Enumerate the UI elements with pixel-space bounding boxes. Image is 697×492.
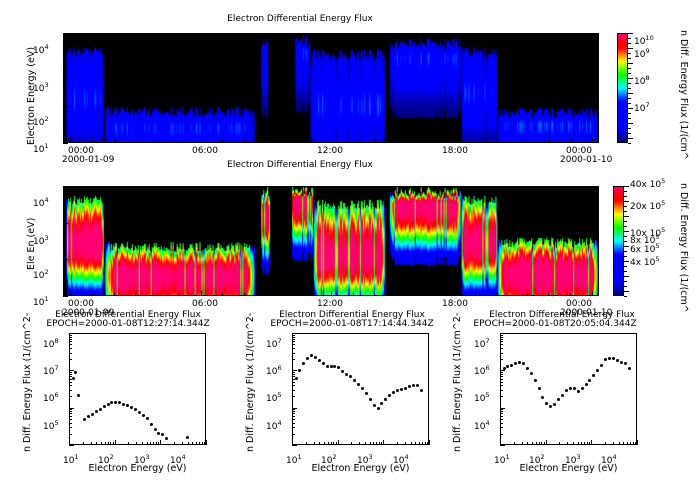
axis-tick — [63, 265, 66, 266]
axis-tick — [314, 442, 315, 445]
axis-tick — [411, 442, 412, 445]
data-point — [400, 388, 403, 391]
axis-tick — [69, 445, 74, 446]
colorbar-tick — [624, 281, 627, 282]
axis-tick — [206, 440, 207, 445]
axis-tick — [69, 333, 74, 334]
data-point — [577, 390, 580, 393]
axis-tick — [69, 396, 72, 397]
panel2-ytick-10-1: 101 — [33, 290, 49, 309]
axis-tick — [292, 379, 295, 380]
data-point — [150, 423, 153, 426]
data-point — [585, 383, 588, 386]
axis-tick — [292, 382, 295, 383]
panel3-plot-area[interactable] — [69, 333, 206, 445]
axis-tick — [63, 285, 66, 286]
panel1-ytick-10-4: 104 — [33, 38, 49, 57]
axis-tick — [483, 293, 484, 296]
colorbar-tick — [628, 48, 633, 49]
colorbar-tick — [624, 226, 627, 227]
axis-tick — [288, 140, 289, 143]
data-point — [161, 433, 164, 436]
axis-tick — [69, 408, 74, 409]
axis-tick — [505, 293, 506, 296]
axis-tick — [63, 114, 66, 115]
axis-tick — [266, 140, 267, 143]
axis-tick — [63, 237, 66, 238]
data-point — [146, 417, 149, 420]
panel4-ylabel: n Diff. Energy Flux (1/(cm^2- — [245, 313, 256, 452]
axis-tick — [69, 427, 72, 428]
axis-tick — [69, 390, 72, 391]
axis-tick — [92, 140, 93, 143]
data-point — [514, 362, 517, 365]
axis-tick — [500, 379, 503, 380]
axis-tick — [96, 442, 97, 445]
axis-tick — [135, 293, 136, 296]
data-point — [545, 402, 548, 405]
axis-tick — [292, 427, 295, 428]
colorbar-tick — [628, 98, 631, 99]
axis-tick — [69, 353, 72, 354]
data-point — [310, 354, 313, 357]
data-point — [561, 394, 564, 397]
axis-tick — [63, 267, 66, 268]
axis-tick — [627, 442, 628, 445]
data-point — [412, 384, 415, 387]
panel1-ylabel: Electron Energy (eV) — [26, 47, 37, 145]
axis-tick — [292, 341, 295, 342]
colorbar-tick — [624, 221, 627, 222]
panel1-colorbar — [617, 33, 628, 143]
axis-tick — [548, 140, 549, 143]
axis-tick — [292, 419, 295, 420]
axis-tick — [527, 442, 528, 445]
data-point — [326, 365, 329, 368]
colorbar-tick — [628, 43, 631, 44]
axis-tick — [500, 382, 503, 383]
axis-tick — [63, 234, 66, 235]
axis-tick — [69, 423, 72, 424]
axis-tick — [136, 442, 137, 445]
axis-tick — [63, 201, 66, 202]
data-point — [600, 364, 603, 367]
panel3-ytick-10-8: 108 — [43, 332, 59, 351]
axis-tick — [70, 138, 71, 143]
axis-tick — [292, 348, 295, 349]
data-point — [581, 387, 584, 390]
panel2-title: Electron Differential Energy Flux — [0, 160, 600, 170]
panel2-xtick-2: 12:00 — [317, 299, 343, 309]
data-point — [388, 394, 391, 397]
colorbar-tick — [628, 133, 631, 134]
axis-tick — [319, 442, 320, 445]
axis-tick — [292, 409, 295, 410]
data-point — [420, 389, 423, 392]
axis-tick — [69, 341, 72, 342]
colorbar-tick — [624, 251, 627, 252]
data-point — [154, 428, 157, 431]
axis-tick — [370, 442, 371, 445]
axis-tick — [500, 445, 505, 446]
data-point — [322, 362, 325, 365]
data-point — [118, 401, 121, 404]
axis-tick — [292, 416, 295, 417]
panel5-plot-area[interactable] — [500, 333, 637, 445]
axis-tick — [63, 190, 66, 191]
panel5-ytick-10-5: 105 — [474, 386, 490, 405]
axis-tick — [500, 335, 503, 336]
axis-tick — [69, 337, 72, 338]
axis-tick — [374, 293, 375, 296]
axis-tick — [244, 293, 245, 296]
panel2-cbtick-10e5: 10x 105 — [630, 221, 665, 240]
axis-tick — [69, 335, 72, 336]
panel5-ylabel: n Diff. Energy Flux (1/(cm^2- — [452, 313, 463, 452]
panel1-colorbar-label: n Diff. Energy Flux (1/(cm^ — [678, 30, 689, 160]
colorbar-tick — [628, 88, 631, 89]
data-point — [142, 414, 145, 417]
colorbar-tick — [624, 216, 629, 217]
panel4-subtitle: EPOCH=2000-01-08T17:14:44.344Z — [252, 319, 452, 329]
axis-tick — [570, 293, 571, 296]
axis-tick — [63, 37, 66, 38]
panel1-cbtick-10-10: 1010 — [634, 29, 654, 48]
data-point — [404, 387, 407, 390]
panel4-ytick-10-6: 106 — [266, 359, 282, 378]
axis-tick — [63, 110, 66, 111]
axis-tick — [619, 442, 620, 445]
axis-tick — [589, 442, 590, 445]
axis-tick — [359, 442, 360, 445]
data-point — [616, 359, 619, 362]
axis-tick — [461, 291, 462, 296]
axis-tick — [63, 108, 66, 109]
axis-tick — [115, 440, 116, 445]
axis-tick — [500, 359, 503, 360]
axis-tick — [153, 442, 154, 445]
panel2-ytick-10-3: 103 — [33, 229, 49, 248]
data-point — [365, 392, 368, 395]
axis-tick — [397, 442, 398, 445]
panel5-subtitle: EPOCH=2000-01-08T20:05:04.344Z — [455, 319, 655, 329]
data-point — [510, 364, 513, 367]
axis-tick — [63, 75, 66, 76]
axis-tick — [292, 370, 297, 371]
axis-tick — [63, 261, 66, 262]
axis-tick — [567, 442, 568, 445]
axis-tick — [292, 385, 295, 386]
colorbar-tick — [628, 78, 633, 79]
axis-tick — [623, 442, 624, 445]
axis-tick — [427, 442, 428, 445]
axis-tick — [633, 442, 634, 445]
axis-tick — [157, 293, 158, 296]
colorbar-tick — [628, 128, 631, 129]
axis-tick — [373, 442, 374, 445]
axis-tick — [500, 416, 503, 417]
axis-tick — [573, 442, 574, 445]
axis-tick — [500, 396, 503, 397]
colorbar-tick — [628, 83, 631, 84]
panel1-cbtick-10-8: 108 — [634, 69, 650, 88]
axis-tick — [69, 413, 72, 414]
data-point — [306, 357, 309, 360]
panel2-colorbar — [613, 186, 624, 296]
axis-tick — [500, 374, 503, 375]
panel5-ytick-10-7: 107 — [474, 332, 490, 351]
axis-tick — [418, 293, 419, 296]
axis-tick — [288, 293, 289, 296]
axis-tick — [514, 442, 515, 445]
axis-tick — [63, 44, 66, 45]
data-point — [83, 418, 86, 421]
axis-tick — [63, 212, 66, 213]
colorbar-tick — [628, 108, 633, 109]
axis-tick — [63, 73, 66, 74]
data-point — [408, 385, 411, 388]
data-point — [592, 374, 595, 377]
colorbar-tick — [628, 38, 631, 39]
axis-tick — [201, 291, 202, 296]
panel4-ytick-10-7: 107 — [266, 332, 282, 351]
axis-tick — [429, 440, 430, 445]
colorbar-tick — [624, 196, 627, 197]
colorbar-tick — [628, 58, 631, 59]
axis-tick — [548, 293, 549, 296]
axis-tick — [351, 442, 352, 445]
axis-tick — [418, 140, 419, 143]
panel1-ytick-10-2: 102 — [33, 110, 49, 129]
axis-tick — [292, 376, 295, 377]
axis-tick — [63, 248, 66, 249]
axis-tick — [500, 337, 503, 338]
panel5-ytick-10-4: 104 — [474, 414, 490, 433]
axis-tick — [292, 390, 295, 391]
data-point — [103, 405, 106, 408]
axis-tick — [179, 140, 180, 143]
axis-tick — [328, 442, 329, 445]
axis-tick — [292, 353, 295, 354]
data-point — [72, 377, 75, 380]
axis-tick — [63, 41, 66, 42]
axis-tick — [591, 440, 592, 445]
data-point — [126, 404, 129, 407]
colorbar-tick — [624, 266, 627, 267]
data-point — [608, 357, 611, 360]
axis-tick — [63, 186, 68, 187]
axis-tick — [592, 291, 593, 296]
axis-tick — [63, 71, 66, 72]
axis-tick — [292, 445, 297, 446]
data-point — [345, 373, 348, 376]
data-point — [596, 369, 599, 372]
data-point — [557, 398, 560, 401]
axis-tick — [331, 442, 332, 445]
axis-tick — [63, 117, 66, 118]
data-point — [392, 391, 395, 394]
axis-tick — [309, 293, 310, 296]
axis-tick — [108, 442, 109, 445]
data-point — [110, 401, 113, 404]
data-point — [588, 379, 591, 382]
axis-tick — [105, 442, 106, 445]
data-point — [91, 413, 94, 416]
axis-tick — [374, 140, 375, 143]
axis-tick — [114, 140, 115, 143]
data-point — [337, 366, 340, 369]
axis-tick — [244, 140, 245, 143]
axis-tick — [63, 59, 66, 60]
axis-tick — [63, 84, 66, 85]
axis-tick — [199, 442, 200, 445]
axis-tick — [500, 434, 503, 435]
colorbar-tick — [624, 201, 629, 202]
data-point — [165, 437, 168, 440]
axis-tick — [570, 140, 571, 143]
data-point — [624, 362, 627, 365]
axis-tick — [196, 442, 197, 445]
axis-tick — [605, 442, 606, 445]
panel3-xlabel: Electron Energy (eV) — [69, 463, 206, 474]
axis-tick — [500, 390, 503, 391]
colorbar-tick — [624, 256, 627, 257]
axis-tick — [63, 112, 66, 113]
axis-tick — [63, 192, 66, 193]
data-point — [99, 408, 102, 411]
panel4-plot-area[interactable] — [292, 333, 429, 445]
axis-tick — [333, 442, 334, 445]
axis-tick — [292, 440, 293, 445]
axis-tick — [292, 359, 295, 360]
axis-tick — [69, 339, 72, 340]
colorbar-tick — [628, 53, 631, 54]
data-point — [314, 356, 317, 359]
axis-tick — [500, 411, 503, 412]
axis-tick — [292, 434, 295, 435]
data-point — [522, 362, 525, 365]
axis-tick — [292, 423, 295, 424]
colorbar-tick — [628, 143, 631, 144]
axis-tick — [204, 442, 205, 445]
panel1-ytick-10-3: 103 — [33, 76, 49, 95]
panel2-xtick-1: 06:00 — [192, 299, 218, 309]
axis-tick — [500, 348, 503, 349]
axis-tick — [440, 293, 441, 296]
axis-tick — [69, 370, 74, 371]
axis-tick — [500, 423, 503, 424]
axis-tick — [69, 416, 72, 417]
colorbar-tick — [628, 138, 633, 139]
axis-tick — [113, 442, 114, 445]
axis-tick — [544, 442, 545, 445]
axis-tick — [110, 442, 111, 445]
axis-tick — [142, 442, 143, 445]
colorbar-tick — [628, 93, 633, 94]
panel4-ytick-10-5: 105 — [266, 386, 282, 405]
axis-tick — [546, 440, 547, 445]
panel3-ylabel: n Diff. Energy Flux (1/(cm^2- — [22, 313, 33, 452]
axis-tick — [383, 440, 384, 445]
data-point — [373, 404, 376, 407]
axis-tick — [266, 293, 267, 296]
panel2-ytick-10-4: 104 — [33, 191, 49, 210]
panel5-xlabel: Electron Energy (eV) — [500, 463, 637, 474]
axis-tick — [365, 442, 366, 445]
axis-tick — [353, 140, 354, 143]
axis-tick — [500, 333, 505, 334]
data-point — [295, 377, 298, 380]
axis-tick — [500, 372, 503, 373]
axis-tick — [63, 274, 66, 275]
axis-tick — [63, 279, 66, 280]
axis-tick — [422, 442, 423, 445]
axis-tick — [69, 434, 72, 435]
data-point — [534, 379, 537, 382]
axis-tick — [419, 442, 420, 445]
axis-tick — [83, 442, 84, 445]
axis-tick — [63, 231, 66, 232]
axis-tick — [500, 376, 503, 377]
data-point — [396, 389, 399, 392]
axis-tick — [69, 440, 70, 445]
panel1-cbtick-10-7: 107 — [634, 96, 650, 115]
axis-tick — [128, 442, 129, 445]
axis-tick — [69, 385, 72, 386]
axis-tick — [415, 442, 416, 445]
axis-tick — [635, 442, 636, 445]
data-point — [518, 361, 521, 364]
data-point — [369, 398, 372, 401]
axis-tick — [584, 442, 585, 445]
panel1-plot-area[interactable] — [63, 33, 599, 143]
axis-tick — [188, 442, 189, 445]
data-point — [541, 396, 544, 399]
data-point — [377, 407, 380, 410]
data-point — [573, 387, 576, 390]
axis-tick — [69, 376, 72, 377]
colorbar-tick — [624, 286, 627, 287]
colorbar-tick — [624, 246, 629, 247]
axis-tick — [536, 442, 537, 445]
data-point — [298, 369, 301, 372]
axis-tick — [527, 293, 528, 296]
axis-tick — [376, 442, 377, 445]
colorbar-tick — [628, 68, 631, 69]
data-point — [95, 410, 98, 413]
axis-tick — [69, 409, 72, 410]
axis-tick — [63, 188, 66, 189]
data-point — [361, 387, 364, 390]
axis-tick — [292, 335, 295, 336]
data-point — [565, 389, 568, 392]
axis-tick — [292, 413, 295, 414]
axis-tick — [630, 442, 631, 445]
axis-tick — [522, 442, 523, 445]
axis-tick — [292, 411, 295, 412]
axis-tick — [91, 442, 92, 445]
colorbar-tick — [628, 63, 633, 64]
axis-tick — [500, 339, 503, 340]
axis-tick — [292, 396, 295, 397]
axis-tick — [101, 442, 102, 445]
colorbar-tick — [624, 261, 629, 262]
panel2-plot-area[interactable] — [63, 186, 599, 296]
axis-tick — [179, 293, 180, 296]
axis-tick — [150, 442, 151, 445]
axis-tick — [338, 440, 339, 445]
axis-tick — [63, 259, 68, 260]
